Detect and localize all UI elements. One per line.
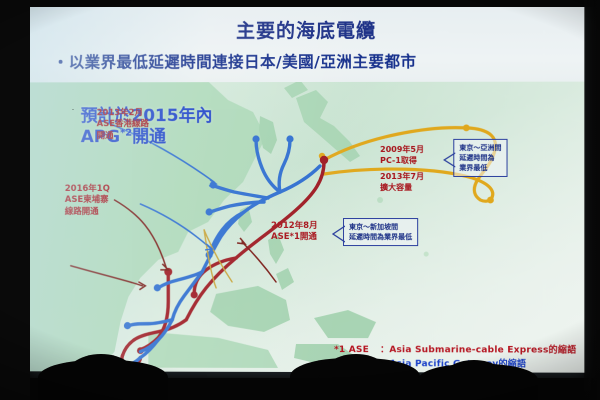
annotation-line: 2009年5月 — [380, 145, 424, 156]
annotation-line: 2016年1Q — [65, 184, 110, 195]
footnote-ase: *1 ASE：Asia Submarine-cable Express的縮語 — [334, 342, 576, 356]
photo-edge-top — [0, 0, 600, 7]
annotation-line: ASE香港線路 — [97, 120, 149, 131]
projected-slide-photo: 主要的海底電纜 ・以業界最低延遲時間連接日本/美國/亞洲主要都市 — [0, 0, 600, 400]
annotation-line: 2013年2月 — [97, 108, 149, 119]
footnote-full-name: Asia Submarine-cable Express — [389, 345, 548, 355]
annotation-ase-hongkong: 2013年2月 ASE香港線路 開通 — [97, 108, 149, 142]
annotation-pc1-expand: 2013年7月 擴大容量 — [380, 172, 424, 194]
annotation-line: PC-1取得 — [380, 156, 424, 167]
annotation-ase-cambodia: 2016年1Q ASE柬埔寨 線路開通 — [65, 184, 110, 218]
presentation-slide: 主要的海底電纜 ・以業界最低延遲時間連接日本/美國/亞洲主要都市 — [29, 5, 585, 372]
slide-subtitle: ・以業界最低延遲時間連接日本/美國/亞洲主要都市 — [53, 50, 417, 73]
annotation-line: ASE*1開通 — [271, 232, 318, 243]
callout-line: 業界最低 — [459, 163, 501, 173]
footnote-suffix: 的縮語 — [549, 346, 577, 356]
callout-tail-icon — [443, 152, 455, 168]
annotation-line: 2012年8月 — [271, 221, 318, 232]
callout-line: 東京～新加坡間 — [349, 222, 412, 232]
annotation-line: 開通 — [97, 131, 149, 142]
annotation-line: ASE柬埔寨 — [65, 195, 110, 206]
callout-line: 東京～亞洲間 — [459, 143, 501, 153]
footnote-separator: ： — [380, 345, 389, 355]
photo-edge-right — [584, 0, 600, 400]
annotation-pc1-acquire: 2009年5月 PC-1取得 — [380, 145, 424, 167]
footnote-mark-text: *1 — [334, 345, 345, 355]
callout-line: 延遲時間為業界最低 — [349, 232, 412, 242]
photo-edge-left — [0, 0, 30, 400]
callout-tail-icon — [332, 225, 345, 243]
annotation-line: 2013年7月 — [380, 172, 424, 183]
page-title: 主要的海底電纜 — [29, 15, 585, 43]
callout-tokyo-singapore: 東京～新加坡間 延遲時間為業界最低 — [343, 218, 418, 246]
callout-line: 延遲時間為 — [459, 153, 501, 163]
annotation-line: 線路開通 — [65, 207, 110, 218]
annotation-line: 擴大容量 — [380, 183, 424, 194]
callout-tokyo-asia: 東京～亞洲間 延遲時間為 業界最低 — [453, 139, 507, 178]
annotation-ase-open: 2012年8月 ASE*1開通 — [271, 221, 318, 244]
